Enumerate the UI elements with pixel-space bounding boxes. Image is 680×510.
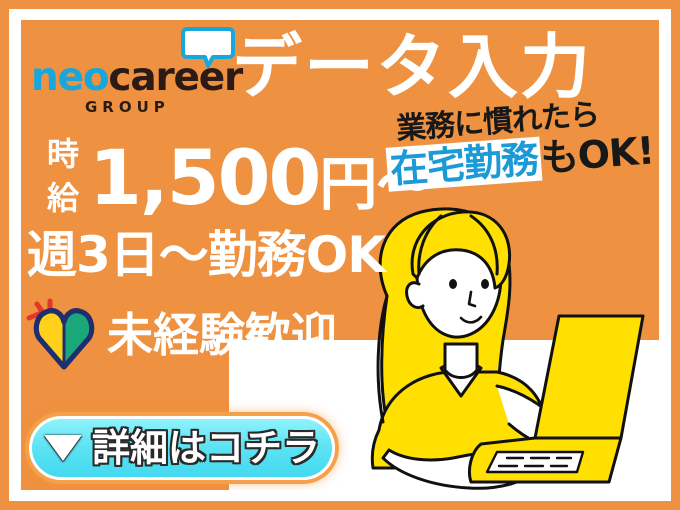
wage-amount: 1,500 — [89, 133, 319, 222]
remote-callout-tail: もOK! — [539, 128, 655, 180]
experience-row: 未経験歓迎 — [25, 298, 365, 374]
speech-bubble-icon — [181, 26, 235, 68]
wage-label-line1: 時 — [35, 132, 91, 176]
shoshinsha-beginner-mark-icon — [33, 304, 95, 370]
logo-group-text: GROUP — [85, 98, 170, 116]
wage-row: 時 給 1,500円〜 — [23, 128, 383, 220]
job-ad-banner: neocareer GROUP データ入力 時 給 1,500円〜 週3日〜勤務… — [0, 0, 680, 510]
logo-neo-text: neo — [31, 55, 108, 100]
neocareer-logo: neocareer GROUP — [29, 38, 229, 114]
banner-stage: neocareer GROUP データ入力 時 給 1,500円〜 週3日〜勤務… — [21, 20, 659, 490]
triangle-down-icon — [44, 435, 82, 461]
wage-label: 時 給 — [35, 132, 91, 220]
wage-label-line2: 給 — [35, 176, 91, 220]
details-cta-label: 詳細はコチラ — [92, 426, 320, 470]
wage-value: 1,500円〜 — [89, 136, 433, 226]
remote-work-callout: 業務に慣れたら 在宅勤務もOK! — [383, 91, 659, 208]
schedule-text: 週3日〜勤務OK — [27, 226, 385, 284]
details-cta-button[interactable]: 詳細はコチラ — [29, 416, 335, 480]
experience-text: 未経験歓迎 — [107, 306, 337, 364]
